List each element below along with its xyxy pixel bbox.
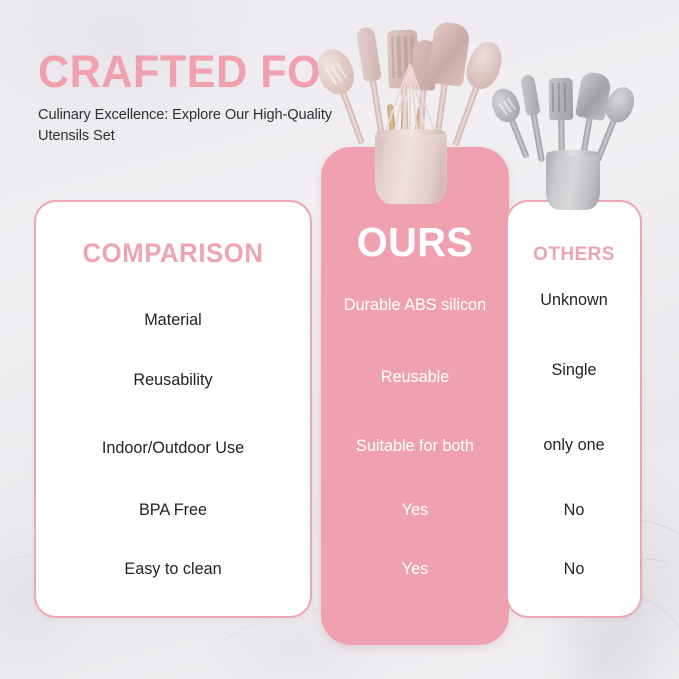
table-row: Durable ABS silicon: [321, 295, 509, 315]
table-row: No: [506, 500, 642, 520]
table-row: No: [506, 559, 642, 579]
infographic-canvas: CRAFTED FOR Culinary Excellence: Explore…: [0, 0, 679, 679]
grey-utensil-set-image: [506, 72, 634, 214]
pink-utensil-holder: [375, 131, 447, 204]
table-row: Yes: [321, 500, 509, 520]
table-row: Reusability: [34, 370, 312, 390]
comparison-header: COMPARISON: [38, 238, 308, 269]
table-row: Reusable: [321, 367, 509, 387]
table-row: only one: [506, 435, 642, 455]
others-header: OTHERS: [508, 243, 640, 266]
table-row: Single: [506, 360, 642, 380]
ours-header: OURS: [324, 219, 506, 266]
table-row: Unknown: [506, 290, 642, 310]
table-row: Indoor/Outdoor Use: [34, 438, 312, 458]
page-subtitle: Culinary Excellence: Explore Our High-Qu…: [38, 105, 368, 146]
pink-utensil-set-image: [333, 8, 483, 208]
ours-column: OURS Durable ABS silicon Reusable Suitab…: [321, 200, 509, 618]
table-row: BPA Free: [34, 500, 312, 520]
page-title: CRAFTED FOR: [38, 48, 355, 96]
table-row: Suitable for both: [321, 436, 509, 456]
table-row: Yes: [321, 559, 509, 579]
table-row: Material: [34, 310, 312, 330]
others-column: OTHERS Unknown Single only one No No: [506, 200, 642, 618]
whisk-icon: [389, 64, 429, 138]
feature-column: COMPARISON Material Reusability Indoor/O…: [34, 200, 312, 618]
table-row: Easy to clean: [34, 559, 312, 579]
